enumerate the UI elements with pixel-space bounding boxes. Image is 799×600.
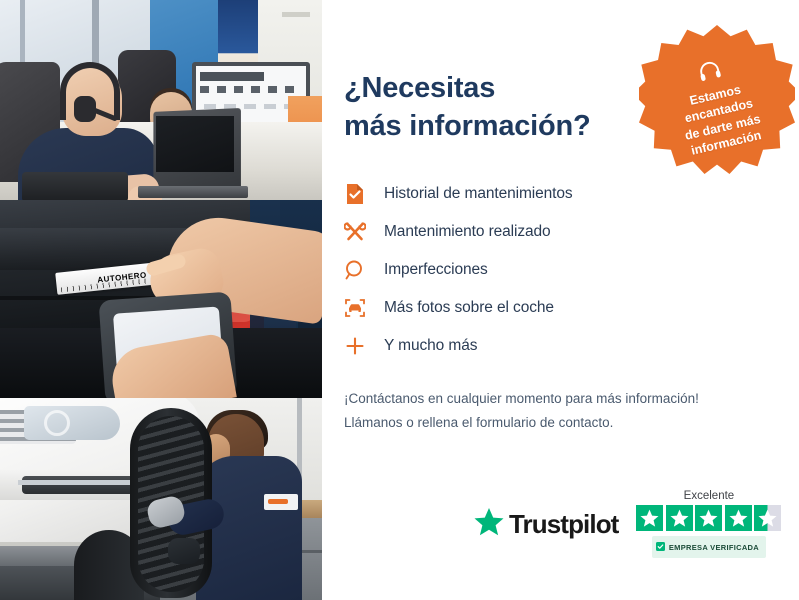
page-title: ¿Necesitas más información?: [344, 70, 644, 145]
feature-label: Historial de mantenimientos: [384, 185, 573, 203]
rating-label: Excelente: [684, 490, 735, 502]
document-check-icon: [344, 183, 366, 205]
star-filled-3: [695, 505, 722, 531]
mechanic-wheel-check-photo: [0, 398, 322, 600]
car-inspection-tablet-photo: AUTOHERO: [0, 200, 322, 398]
feature-label: Y mucho más: [384, 337, 477, 355]
wrench-screwdriver-icon: [344, 221, 366, 243]
content-panel: ¿Necesitas más información? Historial de…: [322, 0, 799, 600]
plus-icon: [344, 335, 366, 357]
verified-label: EMPRESA VERIFICADA: [669, 543, 759, 552]
feature-label: Imperfecciones: [384, 261, 488, 279]
star-filled-4: [725, 505, 752, 531]
trustpilot-wordmark: Trustpilot: [509, 509, 618, 540]
star-filled-1: [636, 505, 663, 531]
feature-label: Más fotos sobre el coche: [384, 299, 554, 317]
contact-line-2: Llámanos o rellena el formulario de cont…: [344, 411, 774, 435]
feature-item-imperfections: Imperfecciones: [344, 251, 799, 289]
trustpilot-logo[interactable]: Trustpilot: [474, 507, 618, 541]
feature-item-maintenance-history: Historial de mantenimientos: [344, 175, 799, 213]
feature-label: Mantenimiento realizado: [384, 223, 551, 241]
check-badge-icon: [656, 538, 665, 556]
feature-list: Historial de mantenimientos Mantenimient…: [344, 175, 799, 365]
trustpilot-rating[interactable]: Trustpilot Excelente: [474, 490, 781, 558]
photo-column: AUTOHERO: [0, 0, 322, 600]
star-rating: [636, 505, 781, 531]
star-half-5: [754, 505, 781, 531]
contact-line-1: ¡Contáctanos en cualquier momento para m…: [344, 387, 774, 411]
magnifier-icon: [344, 259, 366, 281]
headset-icon: [696, 58, 725, 88]
car-focus-frame-icon: [344, 297, 366, 319]
trustpilot-star-icon: [474, 507, 504, 541]
feature-item-much-more: Y mucho más: [344, 327, 799, 365]
verified-badge: EMPRESA VERIFICADA: [652, 536, 766, 558]
star-filled-2: [666, 505, 693, 531]
status-badge: Estamos encantados de darte más informac…: [639, 25, 795, 181]
contact-text: ¡Contáctanos en cualquier momento para m…: [344, 387, 774, 435]
info-banner: AUTOHERO ¿Necesitas: [0, 0, 799, 600]
call-center-agents-photo: [0, 0, 322, 200]
trustpilot-score: Excelente: [636, 490, 781, 558]
headline-line-2: más información?: [344, 108, 644, 146]
badge-text: Estamos encantados de darte más informac…: [656, 74, 786, 164]
feature-item-more-photos: Más fotos sobre el coche: [344, 289, 799, 327]
feature-item-maintenance-done: Mantenimiento realizado: [344, 213, 799, 251]
headline-line-1: ¿Necesitas: [344, 72, 495, 104]
